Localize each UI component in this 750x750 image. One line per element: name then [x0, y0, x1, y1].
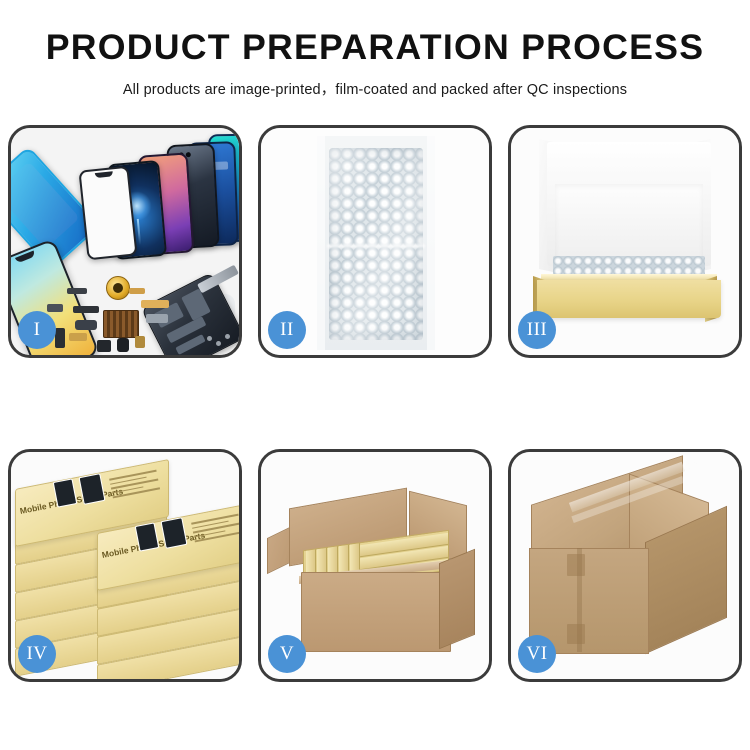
notch-icon — [15, 250, 36, 263]
step-panel-6: VI — [508, 449, 742, 682]
step-badge-6: VI — [518, 635, 556, 673]
small-part — [69, 333, 87, 341]
carton-tab — [567, 624, 585, 644]
foam-sheet — [555, 184, 703, 260]
flex-cable — [146, 314, 168, 323]
step-panel-4: Mobile Phone Spare Parts Mobile Phone Sp… — [8, 449, 242, 682]
carton-tab — [567, 554, 585, 576]
step-panel-5: V — [258, 449, 492, 682]
header: PRODUCT PREPARATION PROCESS All products… — [0, 0, 750, 99]
step-badge-1: I — [18, 311, 56, 349]
small-part — [129, 288, 145, 294]
flex-cable — [141, 300, 169, 308]
bubble-wrap-edges — [317, 136, 435, 350]
carton-side-wall — [439, 548, 475, 649]
flex-cable — [75, 320, 97, 330]
wireless-charging-coil-icon — [106, 276, 130, 300]
step-badge-4: IV — [18, 635, 56, 673]
step-badge-3: III — [518, 311, 556, 349]
step-panel-3: III — [508, 125, 742, 358]
product-preparation-infographic: PRODUCT PREPARATION PROCESS All products… — [0, 0, 750, 750]
carton-front-wall — [301, 572, 451, 652]
small-part — [47, 304, 63, 312]
small-part — [67, 288, 87, 294]
step-panel-1: I — [8, 125, 242, 358]
flex-cable — [73, 306, 99, 313]
steps-grid: I II — [4, 125, 746, 682]
screws-icon — [207, 334, 233, 348]
small-part — [135, 336, 145, 348]
step-panel-2: II — [258, 125, 492, 358]
chip-grid-icon — [103, 310, 139, 338]
small-part — [117, 338, 129, 352]
page-subtitle: All products are image-printed，film-coat… — [0, 78, 750, 99]
page-title: PRODUCT PREPARATION PROCESS — [0, 30, 750, 67]
small-part — [55, 328, 65, 348]
screen-protector-glass — [78, 165, 137, 260]
step-badge-2: II — [268, 311, 306, 349]
box-front-wall — [537, 280, 721, 318]
notch-icon — [95, 171, 113, 178]
bubble-wrap-sleeve — [317, 136, 435, 350]
small-part — [97, 340, 111, 352]
step-badge-5: V — [268, 635, 306, 673]
